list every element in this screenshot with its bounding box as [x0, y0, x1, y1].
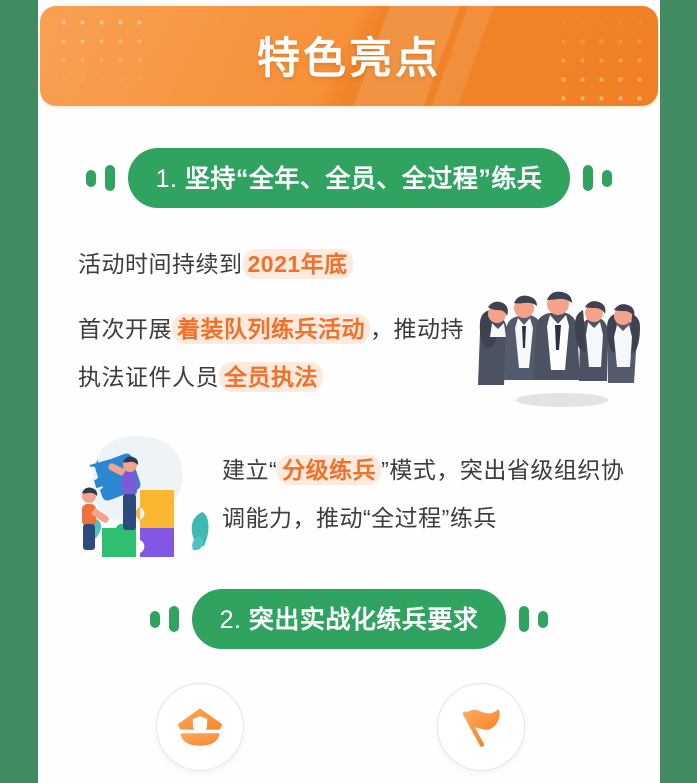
- paragraph-2-highlight-1: 着装队列练兵活动: [172, 314, 370, 344]
- section-2-number: 2.: [220, 606, 242, 634]
- header-banner: 特色亮点: [40, 6, 658, 106]
- paragraph-3: 建立“分级练兵”模式，突出省级组织协调能力，推动“全过程”练兵: [222, 446, 632, 542]
- pill-decoration-left: [86, 165, 115, 191]
- pill-decoration-right: [519, 606, 548, 632]
- paragraph-1-highlight-1: 2021年底: [243, 249, 353, 279]
- pill-decoration-left: [150, 606, 179, 632]
- dash-icon: [538, 611, 548, 628]
- dash-icon: [86, 170, 96, 187]
- page-title: 特色亮点: [40, 24, 658, 86]
- puzzle-svg: [62, 432, 227, 557]
- section-2-heading: 2. 突出实战化练兵要求: [192, 589, 507, 649]
- dash-icon: [150, 611, 160, 628]
- puzzle-teamwork-illustration: [62, 432, 227, 557]
- section-1-heading-row: 1. 坚持“全年、全员、全过程”练兵: [38, 148, 660, 208]
- paragraph-1: 活动时间持续到2021年底: [78, 240, 498, 288]
- section-2-heading-label: 突出实战化练兵要求: [249, 606, 479, 634]
- people-svg: [470, 282, 650, 410]
- dash-icon: [583, 165, 593, 191]
- section-2-heading-row: 2. 突出实战化练兵要求: [38, 589, 660, 649]
- infographic-page: 特色亮点 1. 坚持“全年、全员、全过程”练兵 活动时间持续到2021年底 首次…: [0, 0, 697, 783]
- paragraph-2-highlight-2: 全员执法: [219, 362, 323, 392]
- dash-icon: [519, 606, 529, 632]
- section-1-heading-label: 坚持“全年、全员、全过程”练兵: [185, 165, 543, 193]
- section-1-heading: 1. 坚持“全年、全员、全过程”练兵: [128, 148, 571, 208]
- police-cap-icon-container: [156, 683, 244, 771]
- police-cap-icon: [175, 705, 225, 749]
- dash-icon: [169, 606, 179, 632]
- pill-decoration-right: [583, 165, 612, 191]
- flag-icon: [458, 704, 504, 750]
- flag-icon-container: [437, 683, 525, 771]
- paragraph-2-part-1: 首次开展: [78, 316, 172, 342]
- dash-icon: [602, 170, 612, 187]
- paragraph-3-part-1: 建立“: [222, 457, 277, 483]
- business-people-group-illustration: [470, 282, 650, 410]
- paragraph-1-part-1: 活动时间持续到: [78, 251, 243, 277]
- section-1-number: 1.: [156, 165, 178, 193]
- paragraph-3-highlight-1: 分级练兵: [277, 455, 381, 485]
- paragraph-2: 首次开展着装队列练兵活动，推动持执法证件人员全员执法: [78, 305, 470, 401]
- dash-icon: [105, 165, 115, 191]
